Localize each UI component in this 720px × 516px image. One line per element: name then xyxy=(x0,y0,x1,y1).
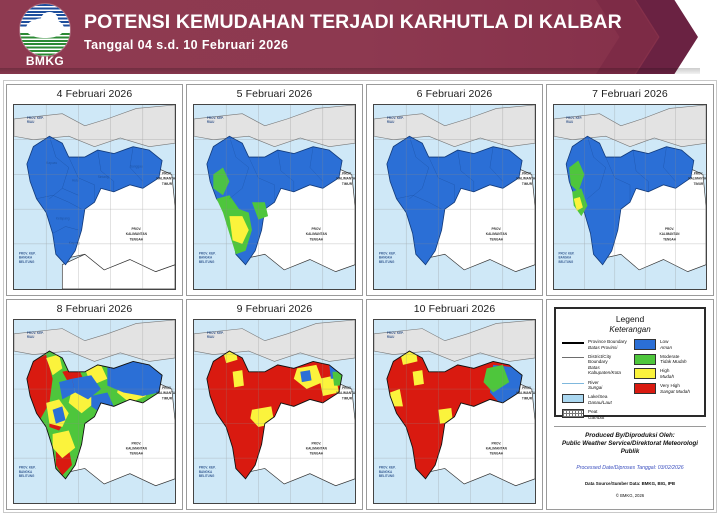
peat-swatch-icon xyxy=(562,409,584,418)
svg-text:RIAU: RIAU xyxy=(27,120,35,124)
legend-label-en: Peat xyxy=(588,409,597,414)
svg-text:RIAU: RIAU xyxy=(566,120,574,124)
svg-text:Sintang: Sintang xyxy=(98,175,109,179)
svg-text:Hulu: Hulu xyxy=(72,178,79,182)
credit-unit: Public Weather Service/Direktorat Meteor… xyxy=(554,440,706,456)
bmkg-logo-disc xyxy=(20,4,70,56)
map-canvas-08-feb[interactable]: PROV. KEP.RIAU PROV. KEP.BANGKABELITUNG … xyxy=(13,319,176,504)
credits-block: Produced By/Diproduksi Oleh: Public Weat… xyxy=(554,426,706,505)
svg-text:TENGAH: TENGAH xyxy=(310,237,324,241)
moderate-swatch-icon xyxy=(634,354,656,365)
legend-label: District/City Boundary Batas Kabupaten/K… xyxy=(588,354,632,376)
legend-label-en: Very High xyxy=(660,383,680,388)
legend-label: Very High Sangat Mudah xyxy=(660,383,690,394)
province-boundary-icon xyxy=(562,342,584,344)
map-canvas-04-feb[interactable]: Kapuas Hulu Sintang Sanggau Ketapang Kay… xyxy=(13,104,176,290)
svg-text:PROV.: PROV. xyxy=(312,227,322,231)
panel-title: 6 Februari 2026 xyxy=(367,88,542,100)
kalbar-map-svg: Kapuas Hulu Sintang Sanggau Ketapang Kay… xyxy=(14,105,175,289)
legend-column-features: Province Boundary Batas Provinsi Distric… xyxy=(556,339,632,413)
legend-title: Legend xyxy=(556,314,704,324)
svg-text:PROV.: PROV. xyxy=(162,386,172,390)
legend-label: Peat Gambut xyxy=(588,409,604,420)
page-header: BMKG POTENSI KEMUDAHAN TERJADI KARHUTLA … xyxy=(0,0,720,74)
legend-label-en: Province Boundary xyxy=(588,339,627,344)
map-canvas-05-feb[interactable]: PROV. KEP.RIAU PROV. KEP.BANGKABELITUNG … xyxy=(193,104,356,290)
svg-text:KALIMANTAN: KALIMANTAN xyxy=(336,177,355,181)
kalbar-map-svg: PROV. KEP.RIAU PROV. KEP.BANGKABELITUNG … xyxy=(374,320,535,503)
lake-sea-swatch-icon xyxy=(562,394,584,403)
svg-text:BELITUNG: BELITUNG xyxy=(199,260,215,264)
svg-text:KALIMANTAN: KALIMANTAN xyxy=(516,177,535,181)
map-panel-06-feb[interactable]: 6 Februari 2026 PROV. KEP.RIAU PROV. KEP… xyxy=(366,84,543,296)
svg-text:TIMUR: TIMUR xyxy=(522,396,533,400)
map-canvas-10-feb[interactable]: PROV. KEP.RIAU PROV. KEP.BANGKABELITUNG … xyxy=(373,319,536,504)
svg-text:KALIMANTAN: KALIMANTAN xyxy=(486,446,508,450)
legend-columns: Province Boundary Batas Provinsi Distric… xyxy=(556,339,704,413)
header-shadow xyxy=(0,68,700,74)
svg-text:PROV.: PROV. xyxy=(522,171,532,175)
legend-label-id: Mudah xyxy=(660,374,674,380)
legend-label-id: Danau/Laut xyxy=(588,400,612,406)
map-panel-07-feb[interactable]: 7 Februari 2026 PROV. KEP.RIAU xyxy=(546,84,714,296)
legend-label-en: Moderate xyxy=(660,354,679,359)
legend-label-en: River xyxy=(588,380,599,385)
legend-item-district-boundary: District/City Boundary Batas Kabupaten/K… xyxy=(562,354,632,376)
svg-text:RIAU: RIAU xyxy=(207,335,215,339)
high-swatch-icon xyxy=(634,368,656,379)
map-panel-08-feb[interactable]: 8 Februari 2026 xyxy=(6,299,183,510)
svg-text:KALIMANTAN: KALIMANTAN xyxy=(306,232,328,236)
legend-item-low: Low Aman xyxy=(634,339,704,350)
kalbar-map-svg: PROV. KEP.RIAU PROV. KEP.BANGKABELITUNG … xyxy=(374,105,535,289)
page-subtitle: Tanggal 04 s.d. 10 Februari 2026 xyxy=(84,38,288,52)
legend-label-id: Batas Kabupaten/Kota xyxy=(588,365,632,376)
panel-title: 5 Februari 2026 xyxy=(187,88,362,100)
svg-text:BELITUNG: BELITUNG xyxy=(199,474,215,478)
legend-item-moderate: Moderate Tidak Mudah xyxy=(634,354,704,365)
legend-label-en: High xyxy=(660,368,669,373)
legend-label-id: Sungai xyxy=(588,385,602,391)
map-panel-05-feb[interactable]: 5 Februari 2026 PROV. KEP xyxy=(186,84,363,296)
page-title: POTENSI KEMUDAHAN TERJADI KARHUTLA DI KA… xyxy=(84,11,622,34)
legend-item-peat: Peat Gambut xyxy=(562,409,632,420)
legend-label: Moderate Tidak Mudah xyxy=(660,354,687,365)
svg-text:KALIMANTAN: KALIMANTAN xyxy=(126,446,148,450)
svg-text:TIMUR: TIMUR xyxy=(694,182,704,186)
low-swatch-icon xyxy=(634,339,656,350)
svg-text:RIAU: RIAU xyxy=(27,335,35,339)
panel-title: 9 Februari 2026 xyxy=(187,303,362,315)
legend-item-province-boundary: Province Boundary Batas Provinsi xyxy=(562,339,632,350)
svg-text:Kayong: Kayong xyxy=(69,241,80,245)
svg-text:TENGAH: TENGAH xyxy=(310,452,324,456)
map-canvas-09-feb[interactable]: PROV. KEP.RIAU PROV. KEP.BANGKABELITUNG … xyxy=(193,319,356,504)
panel-title: 4 Februari 2026 xyxy=(7,88,182,100)
legend-title-id: Keterangan xyxy=(556,325,704,334)
svg-text:BELITUNG: BELITUNG xyxy=(559,260,574,264)
credit-copyright: © BMKG, 2026 xyxy=(554,492,706,499)
svg-text:KALIMANTAN: KALIMANTAN xyxy=(306,446,328,450)
map-panel-10-feb[interactable]: 10 Februari 2026 xyxy=(366,299,543,510)
svg-text:KALIMANTAN: KALIMANTAN xyxy=(660,232,681,236)
svg-text:PROV.: PROV. xyxy=(132,441,142,445)
legend-label-id: Aman xyxy=(660,345,672,351)
map-panel-grid: 4 Februari 2026 xyxy=(6,84,714,510)
map-canvas-07-feb[interactable]: PROV. KEP.RIAU PROV. KEP.BANGKABELITUNG … xyxy=(553,104,707,290)
svg-text:KALIMANTAN: KALIMANTAN xyxy=(516,391,535,395)
legend-item-high: High Mudah xyxy=(634,368,704,379)
credit-produced-by: Produced By/Diproduksi Oleh: xyxy=(554,432,706,440)
kalbar-map-svg: PROV. KEP.RIAU PROV. KEP.BANGKABELITUNG … xyxy=(194,105,355,289)
legend-item-river: River Sungai xyxy=(562,380,632,391)
svg-text:TENGAH: TENGAH xyxy=(663,237,676,241)
legend-box: Legend Keterangan Province Boundary Bata… xyxy=(554,307,706,417)
svg-text:PROV.: PROV. xyxy=(492,441,502,445)
legend-label: Province Boundary Batas Provinsi xyxy=(588,339,627,350)
very-high-swatch-icon xyxy=(634,383,656,394)
map-panel-04-feb[interactable]: 4 Februari 2026 xyxy=(6,84,183,296)
svg-text:Kapuas: Kapuas xyxy=(46,161,57,165)
svg-text:KALIMANTAN: KALIMANTAN xyxy=(156,391,175,395)
panel-title: 10 Februari 2026 xyxy=(367,303,542,315)
legend-panel: Legend Keterangan Province Boundary Bata… xyxy=(546,299,714,510)
svg-text:TENGAH: TENGAH xyxy=(130,237,144,241)
legend-label: High Mudah xyxy=(660,368,674,379)
district-boundary-icon xyxy=(562,357,584,358)
svg-text:PROV.: PROV. xyxy=(342,171,352,175)
svg-text:TENGAH: TENGAH xyxy=(490,237,504,241)
svg-text:PROV.: PROV. xyxy=(522,386,532,390)
kalbar-map-svg: PROV. KEP.RIAU PROV. KEP.BANGKABELITUNG … xyxy=(554,105,706,289)
svg-text:KALIMANTAN: KALIMANTAN xyxy=(126,232,148,236)
credit-data-source: Data Source/Sumber Data: BMKG, BIG, IPB xyxy=(554,480,706,487)
legend-label: River Sungai xyxy=(588,380,602,391)
legend-label-id: Gambut xyxy=(588,415,604,421)
legend-label-en: Low xyxy=(660,339,668,344)
svg-text:TENGAH: TENGAH xyxy=(490,452,504,456)
svg-text:RIAU: RIAU xyxy=(207,120,215,124)
svg-text:KALIMANTAN: KALIMANTAN xyxy=(336,391,355,395)
panel-title: 8 Februari 2026 xyxy=(7,303,182,315)
svg-text:PROV.: PROV. xyxy=(665,227,674,231)
legend-label-id: Batas Provinsi xyxy=(588,345,627,351)
svg-text:TIMUR: TIMUR xyxy=(342,182,353,186)
svg-text:RIAU: RIAU xyxy=(387,120,395,124)
svg-text:PROV.: PROV. xyxy=(342,386,352,390)
svg-text:KALIMANTAN: KALIMANTAN xyxy=(156,177,175,181)
legend-label-id: Sangat Mudah xyxy=(660,389,690,395)
svg-text:TIMUR: TIMUR xyxy=(522,182,533,186)
bmkg-logo-caption: BMKG xyxy=(14,54,76,68)
svg-text:PROV.: PROV. xyxy=(492,227,502,231)
map-canvas-06-feb[interactable]: PROV. KEP.RIAU PROV. KEP.BANGKABELITUNG … xyxy=(373,104,536,290)
map-panel-09-feb[interactable]: 9 Februari 2026 xyxy=(186,299,363,510)
kalbar-map-svg: PROV. KEP.RIAU PROV. KEP.BANGKABELITUNG … xyxy=(194,320,355,503)
legend-label-en: District/City Boundary xyxy=(588,354,611,365)
bmkg-logo: BMKG xyxy=(14,4,76,70)
legend-label: Lake/Sea Danau/Laut xyxy=(588,394,612,405)
river-icon xyxy=(562,383,584,384)
svg-text:BELITUNG: BELITUNG xyxy=(379,474,395,478)
logo-cloud-icon xyxy=(26,18,64,39)
svg-text:KALIMANTAN: KALIMANTAN xyxy=(486,232,508,236)
karhutla-poster: BMKG POTENSI KEMUDAHAN TERJADI KARHUTLA … xyxy=(0,0,720,516)
legend-label: Low Aman xyxy=(660,339,672,350)
svg-text:PROV.: PROV. xyxy=(132,227,142,231)
svg-text:TIMUR: TIMUR xyxy=(162,182,173,186)
svg-text:RIAU: RIAU xyxy=(387,335,395,339)
legend-item-very-high: Very High Sangat Mudah xyxy=(634,383,704,394)
legend-label-en: Lake/Sea xyxy=(588,394,607,399)
svg-text:BELITUNG: BELITUNG xyxy=(379,260,395,264)
legend-column-classes: Low Aman Moderate Tidak Mudah xyxy=(632,339,704,413)
svg-text:PROV.: PROV. xyxy=(694,171,703,175)
svg-text:BELITUNG: BELITUNG xyxy=(19,260,35,264)
legend-item-lake-sea: Lake/Sea Danau/Laut xyxy=(562,394,632,405)
svg-text:Sanggau: Sanggau xyxy=(130,164,143,168)
svg-text:BELITUNG: BELITUNG xyxy=(19,474,35,478)
svg-text:TENGAH: TENGAH xyxy=(130,452,144,456)
svg-text:Ketapang: Ketapang xyxy=(56,216,70,220)
legend-label-id: Tidak Mudah xyxy=(660,359,687,365)
svg-text:TIMUR: TIMUR xyxy=(162,396,173,400)
svg-text:PROV.: PROV. xyxy=(162,171,172,175)
svg-text:TIMUR: TIMUR xyxy=(342,396,353,400)
svg-text:KALIMANTAN: KALIMANTAN xyxy=(688,176,706,180)
svg-text:PROV.: PROV. xyxy=(312,441,322,445)
kalbar-map-svg: PROV. KEP.RIAU PROV. KEP.BANGKABELITUNG … xyxy=(14,320,175,503)
credit-processed-date: Processed Date/Diproses Tanggal: 03/02/2… xyxy=(554,464,706,472)
panel-title: 7 Februari 2026 xyxy=(547,88,713,100)
